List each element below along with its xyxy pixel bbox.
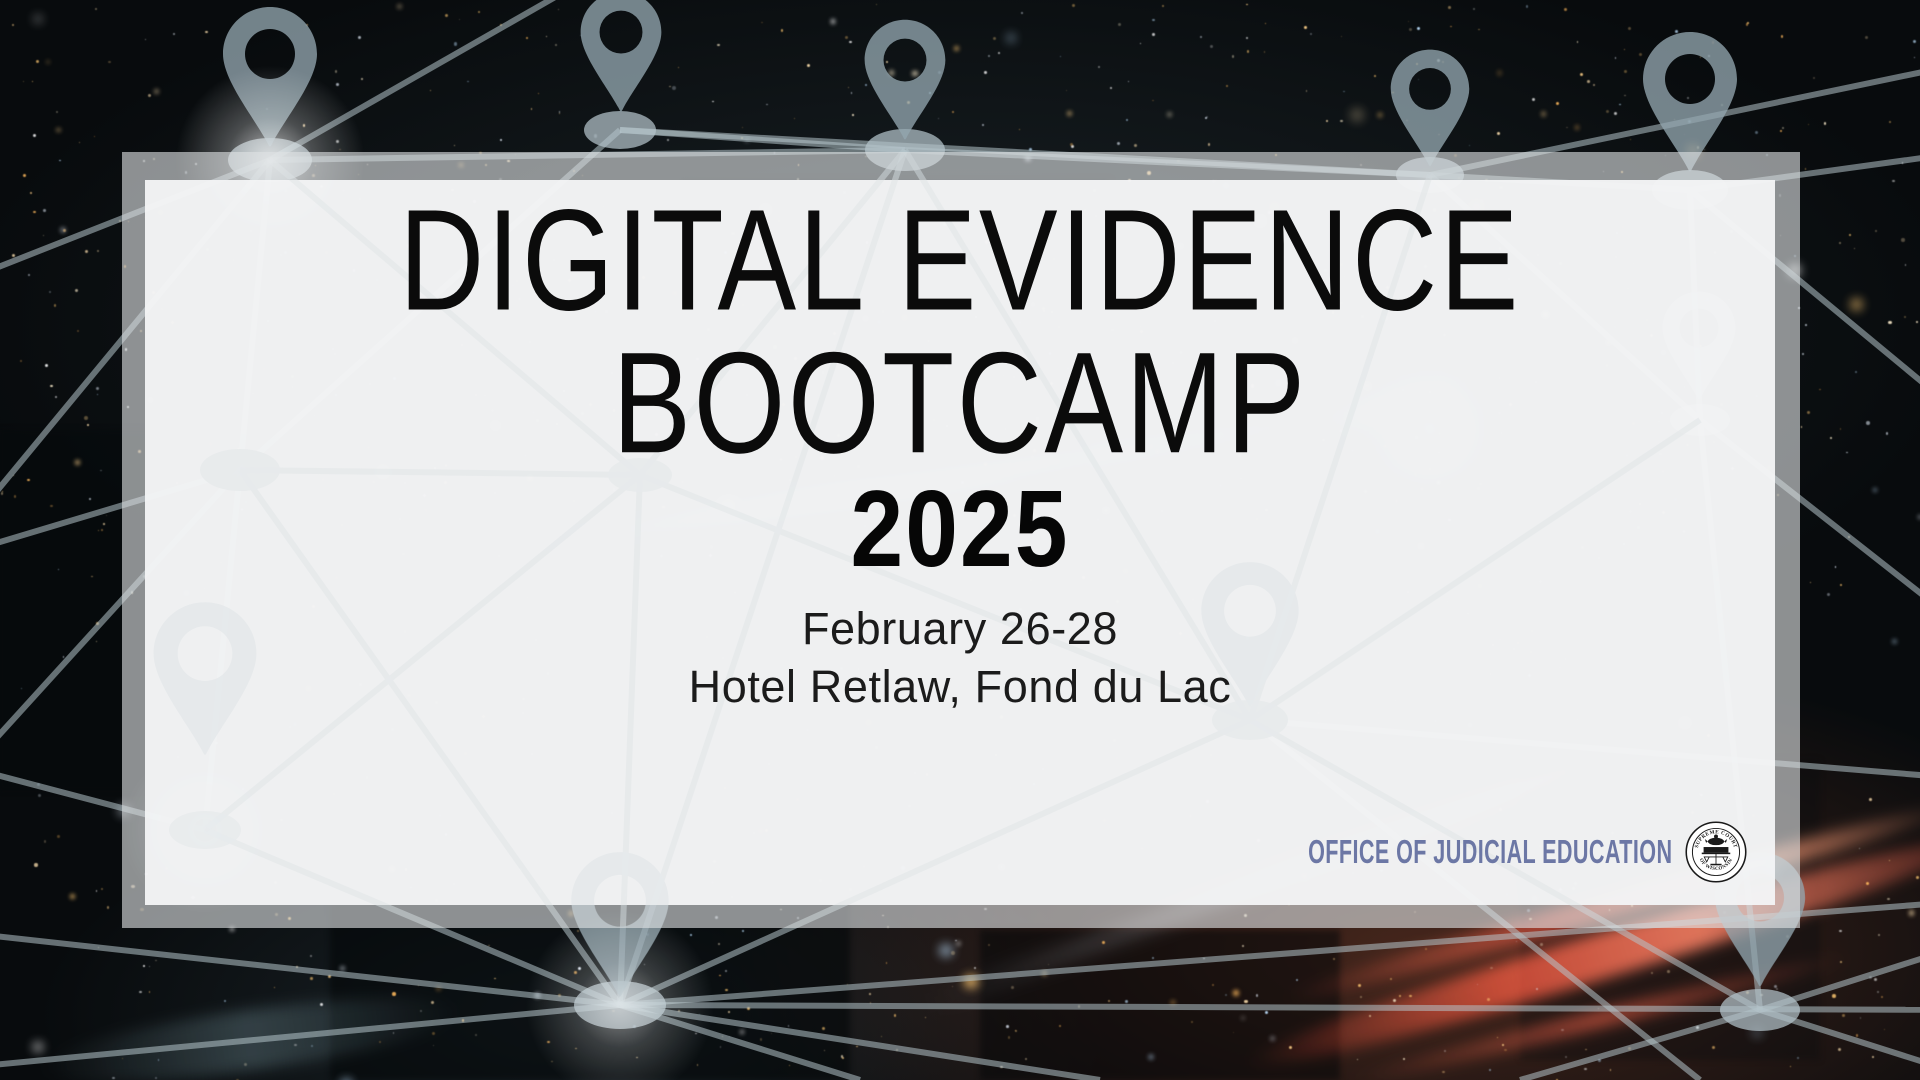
event-title: DIGITAL EVIDENCE BOOTCAMP xyxy=(145,190,1775,475)
map-pin-icon xyxy=(1391,50,1470,167)
map-pin-icon xyxy=(1643,32,1737,172)
supreme-court-of-wisconsin-seal-icon: SUPREME COURT OF WISCONSIN xyxy=(1685,821,1747,883)
event-year: 2025 xyxy=(121,475,1800,584)
event-dates: February 26-28 xyxy=(145,600,1775,658)
event-venue: Hotel Retlaw, Fond du Lac xyxy=(145,658,1775,716)
map-pin-icon xyxy=(865,20,946,140)
poster-content: DIGITAL EVIDENCE BOOTCAMP 2025 February … xyxy=(145,180,1775,905)
poster-canvas: DIGITAL EVIDENCE BOOTCAMP 2025 February … xyxy=(0,0,1920,1080)
event-details: February 26-28 Hotel Retlaw, Fond du Lac xyxy=(145,600,1775,715)
organization-name: OFFICE OF JUDICIAL EDUCATION xyxy=(1309,833,1673,871)
map-pin-icon xyxy=(581,0,662,112)
organization-logo: OFFICE OF JUDICIAL EDUCATION SUPREME COU… xyxy=(1217,821,1747,883)
